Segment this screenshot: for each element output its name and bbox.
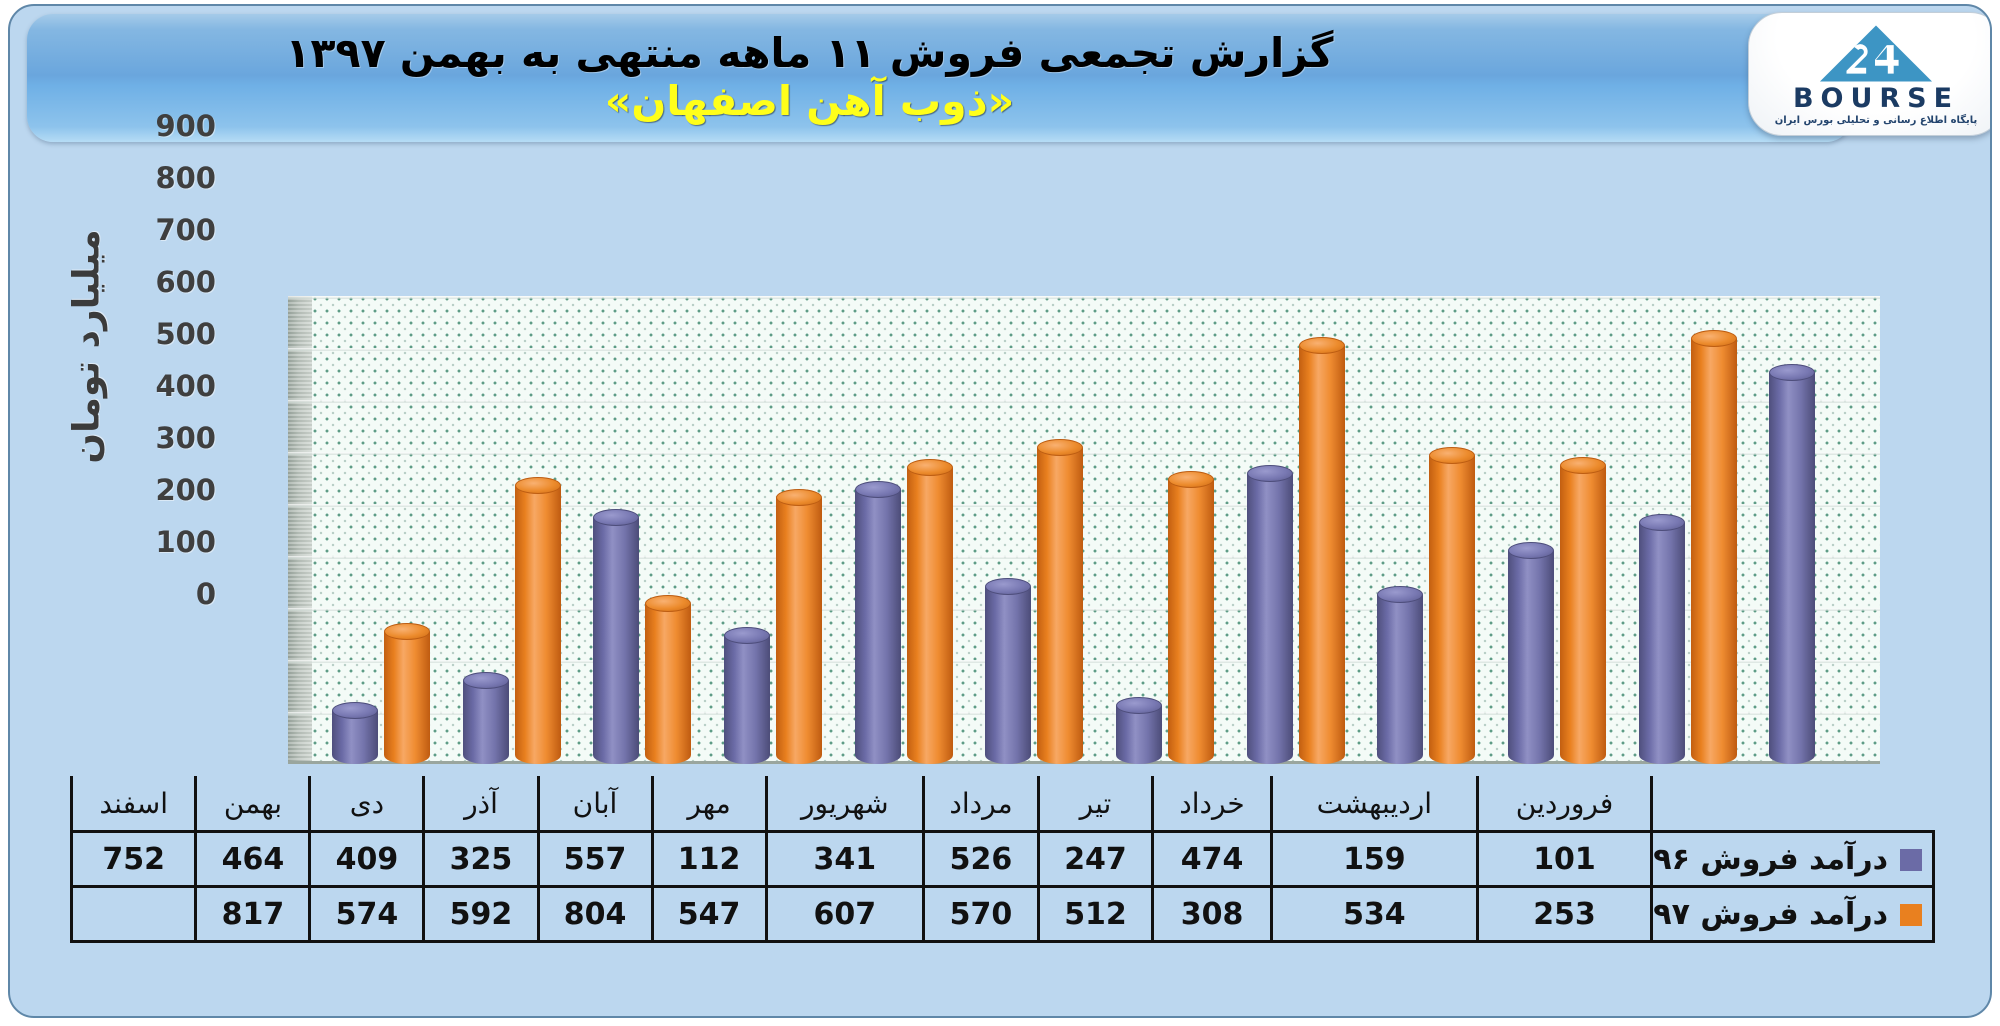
bar-body [1639,523,1685,764]
cell-97-بهمن: 817 [196,887,310,942]
bar-درآمد-فروش-۹۷-آذر[interactable] [1429,456,1475,764]
bar-body [1691,339,1737,764]
bar-body [332,711,378,764]
bar-top-cap [724,627,770,644]
bar-درآمد-فروش-۹۶-تیر[interactable] [724,636,770,764]
bar-body [724,636,770,764]
page-title: گزارش تجمعی فروش ۱۱ ماهه منتهی به بهمن ۱… [286,31,1334,77]
cell-97-شهریور: 607 [766,887,923,942]
report-card: گزارش تجمعی فروش ۱۱ ماهه منتهی به بهمن ۱… [8,4,1992,1018]
cell-96-تیر: 247 [1038,832,1152,887]
bar-group-1 [443,296,574,764]
bar-درآمد-فروش-۹۶-دی[interactable] [1508,551,1554,764]
bar-درآمد-فروش-۹۷-فروردین[interactable] [384,632,430,764]
bar-top-cap [1168,471,1214,488]
table-header-آبان: آبان [538,776,652,832]
table-header-دی: دی [310,776,424,832]
bar-درآمد-فروش-۹۶-اردیبهشت[interactable] [463,681,509,764]
table-row-series-97: درآمد فروش ۹۷ 25353430851257060754780459… [72,887,1934,942]
bar-group-6 [1096,296,1227,764]
bar-درآمد-فروش-۹۷-آبان[interactable] [1299,346,1345,764]
bar-درآمد-فروش-۹۷-شهریور[interactable] [1037,448,1083,764]
bar-درآمد-فروش-۹۶-مرداد[interactable] [855,490,901,764]
table-header-مهر: مهر [652,776,766,832]
cell-97-دی: 574 [310,887,424,942]
bar-top-cap [645,595,691,612]
bar-group-8 [1357,296,1488,764]
legend-swatch-96-icon [1900,849,1922,871]
bar-body [1560,466,1606,764]
table-header-مرداد: مرداد [924,776,1039,832]
bar-درآمد-فروش-۹۶-خرداد[interactable] [593,518,639,764]
bar-top-cap [1639,514,1685,531]
logo-tagline: پایگاه اطلاع رسانی و تحلیلی بورس ایران [1775,115,1978,126]
bar-top-cap [776,489,822,506]
bar-group-11 [1749,296,1880,764]
bar-body [645,604,691,764]
bar-درآمد-فروش-۹۶-شهریور[interactable] [985,587,1031,764]
table-header-تیر: تیر [1038,776,1152,832]
bar-group-10 [1619,296,1750,764]
table-header-بهمن: بهمن [196,776,310,832]
bar-body [1769,373,1815,764]
bar-body [463,681,509,764]
plot-side-wall [288,296,313,764]
table-corner-cell [1652,776,1934,832]
cell-96-آبان: 557 [538,832,652,887]
data-table: فروردیناردیبهشتخردادتیرمردادشهریورمهرآبا… [70,776,1935,943]
bar-درآمد-فروش-۹۶-مهر[interactable] [1116,706,1162,764]
header-text-group: گزارش تجمعی فروش ۱۱ ماهه منتهی به بهمن ۱… [27,14,1852,142]
bar-درآمد-فروش-۹۷-مرداد[interactable] [907,468,953,764]
cell-96-آذر: 325 [424,832,538,887]
bar-body [855,490,901,764]
bar-درآمد-فروش-۹۷-مهر[interactable] [1168,480,1214,764]
cell-96-مرداد: 526 [924,832,1039,887]
bourse24-logo: BOURSE پایگاه اطلاع رسانی و تحلیلی بورس … [1748,12,1992,136]
bar-درآمد-فروش-۹۶-بهمن[interactable] [1639,523,1685,764]
bar-body [776,498,822,764]
legend-text-97: درآمد فروش ۹۷ [1653,897,1888,932]
bar-body [1116,706,1162,764]
header-banner: گزارش تجمعی فروش ۱۱ ماهه منتهی به بهمن ۱… [27,14,1852,142]
bar-top-cap [1691,330,1737,347]
bar-درآمد-فروش-۹۷-تیر[interactable] [776,498,822,764]
cell-97-مهر: 547 [652,887,766,942]
bar-body [1247,474,1293,764]
bar-top-cap [907,459,953,476]
logo-wordmark: BOURSE [1793,85,1959,112]
bar-group-3 [704,296,835,764]
bar-top-cap [593,509,639,526]
table-header-اردیبهشت: اردیبهشت [1272,776,1478,832]
bar-body [985,587,1031,764]
table-header-اسفند: اسفند [72,776,196,832]
bar-top-cap [1116,697,1162,714]
bar-chart [70,166,1935,776]
table-header-شهریور: شهریور [766,776,923,832]
legend-swatch-97-icon [1900,904,1922,926]
table-row-series-96: درآمد فروش ۹۶ 10115947424752634111255732… [72,832,1934,887]
table-row-categories: فروردیناردیبهشتخردادتیرمردادشهریورمهرآبا… [72,776,1934,832]
cell-97-آذر: 592 [424,887,538,942]
bar-body [515,486,561,764]
bar-body [1429,456,1475,764]
bar-group-0 [312,296,443,764]
bar-top-cap [985,578,1031,595]
bar-group-2 [573,296,704,764]
cell-97-اسفند [72,887,196,942]
plot-area [312,296,1880,764]
cell-96-فروردین: 101 [1477,832,1652,887]
bar-body [1377,595,1423,764]
bar-درآمد-فروش-۹۶-اسفند[interactable] [1769,373,1815,764]
bar-درآمد-فروش-۹۶-آذر[interactable] [1377,595,1423,764]
bar-درآمد-فروش-۹۷-اردیبهشت[interactable] [515,486,561,764]
bar-body [907,468,953,764]
y-tick-900: 900 [138,109,216,143]
bar-body [1508,551,1554,764]
bar-درآمد-فروش-۹۶-فروردین[interactable] [332,711,378,764]
bar-درآمد-فروش-۹۶-آبان[interactable] [1247,474,1293,764]
bar-top-cap [1769,364,1815,381]
table-header-آذر: آذر [424,776,538,832]
bar-body [1037,448,1083,764]
bar-group-5 [965,296,1096,764]
triangle-24-logo-icon [1817,22,1935,84]
cell-96-اردیبهشت: 159 [1272,832,1478,887]
cell-97-مرداد: 570 [924,887,1039,942]
cell-96-اسفند: 752 [72,832,196,887]
cell-96-دی: 409 [310,832,424,887]
cell-97-فروردین: 253 [1477,887,1652,942]
table-header-خرداد: خرداد [1153,776,1272,832]
legend-label-97: درآمد فروش ۹۷ [1652,887,1934,942]
bar-top-cap [1560,457,1606,474]
cell-97-آبان: 804 [538,887,652,942]
bar-body [1299,346,1345,764]
bar-درآمد-فروش-۹۷-دی[interactable] [1560,466,1606,764]
bar-group-7 [1227,296,1358,764]
bar-group-9 [1488,296,1619,764]
cell-96-خرداد: 474 [1153,832,1272,887]
cell-96-شهریور: 341 [766,832,923,887]
legend-text-96: درآمد فروش ۹۶ [1653,842,1888,877]
cell-97-خرداد: 308 [1153,887,1272,942]
bar-body [593,518,639,764]
bar-group-4 [835,296,966,764]
bar-درآمد-فروش-۹۷-خرداد[interactable] [645,604,691,764]
bar-body [384,632,430,764]
cell-96-مهر: 112 [652,832,766,887]
table-header-فروردین: فروردین [1477,776,1652,832]
cell-97-اردیبهشت: 534 [1272,887,1478,942]
bar-top-cap [1299,337,1345,354]
legend-label-96: درآمد فروش ۹۶ [1652,832,1934,887]
cell-96-بهمن: 464 [196,832,310,887]
cell-97-تیر: 512 [1038,887,1152,942]
bar-top-cap [1377,586,1423,603]
page-subtitle: «ذوب آهن اصفهان» [605,79,1014,125]
bar-درآمد-فروش-۹۷-بهمن[interactable] [1691,339,1737,764]
bar-body [1168,480,1214,764]
